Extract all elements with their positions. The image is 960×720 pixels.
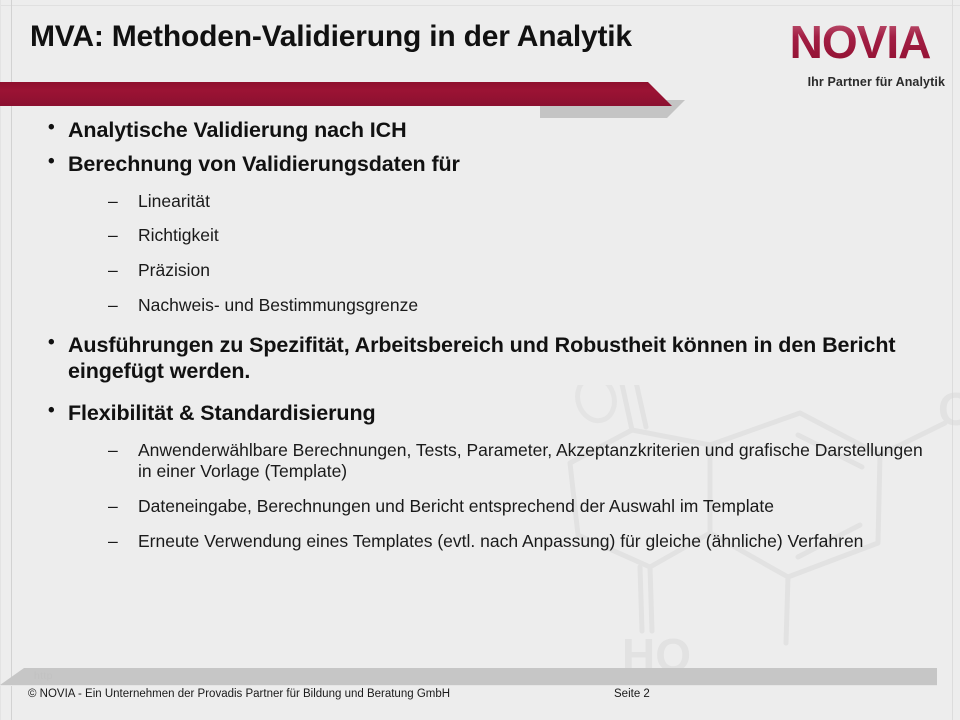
novia-logo: NOVIA Ihr Partner für Analytik <box>775 18 945 88</box>
top-divider <box>0 5 960 6</box>
page-title: MVA: Methoden-Validierung in der Analyti… <box>30 20 632 54</box>
bullet-level2: Präzision <box>40 260 930 282</box>
slide-body: Analytische Validierung nach ICH Berechn… <box>40 118 930 561</box>
footer-band <box>0 668 937 685</box>
logo-tagline: Ihr Partner für Analytik <box>775 75 945 89</box>
bullet-level1: Analytische Validierung nach ICH <box>40 118 930 143</box>
footer-divider <box>0 685 937 686</box>
left-edge-rule <box>0 0 1 720</box>
bullet-level1: Ausführungen zu Spezifität, Arbeitsberei… <box>40 333 930 384</box>
bullet-level1: Berechnung von Validierungsdaten für <box>40 152 930 177</box>
logo-wordmark: NOVIA <box>790 18 931 66</box>
footer-http-text: http <box>34 670 53 682</box>
bullet-level1: Flexibilität & Standardisierung <box>40 401 930 426</box>
bullet-level2: Nachweis- und Bestimmungsgrenze <box>40 295 930 317</box>
bullet-level2: Linearität <box>40 191 930 213</box>
footer-page-number: Seite 2 <box>614 688 650 700</box>
bullet-level2: Dateneingabe, Berechnungen und Bericht e… <box>40 496 930 518</box>
footer-copyright: © NOVIA - Ein Unternehmen der Provadis P… <box>28 688 450 700</box>
watermark-label-oh: OH <box>938 385 960 435</box>
bullet-level2: Anwenderwählbare Berechnungen, Tests, Pa… <box>40 440 930 483</box>
right-vertical-rule <box>952 0 953 720</box>
bullet-level2: Richtigkeit <box>40 225 930 247</box>
left-vertical-rule <box>11 0 12 720</box>
accent-bar <box>0 82 672 106</box>
bullet-level2: Erneute Verwendung eines Templates (evtl… <box>40 531 930 553</box>
slide: OH HO MVA: Methoden-Validierung in der A… <box>0 0 960 720</box>
